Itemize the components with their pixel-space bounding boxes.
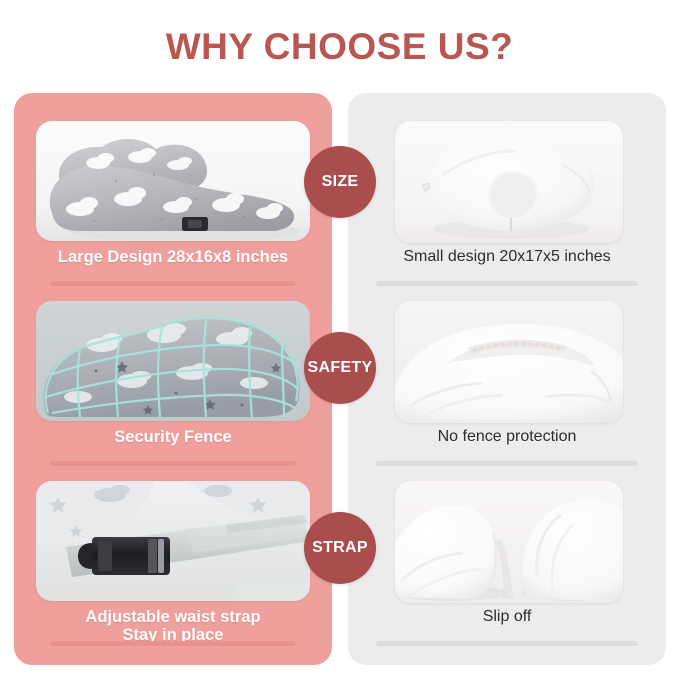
theirs-safety-caption: No fence protection — [358, 428, 656, 446]
ours-size-caption: Large Design 28x16x8 inches — [24, 248, 322, 266]
caption-line-1: Large Design 28x16x8 inches — [24, 248, 322, 266]
theirs-row-safety: No fence protection — [348, 273, 666, 463]
large-pillow-illustration — [36, 121, 310, 241]
ours-row-safety: Security Fence — [14, 273, 332, 463]
comparison-panel-ours: Large Design 28x16x8 inches — [14, 93, 332, 665]
badge-strap: STRAP — [304, 512, 376, 584]
slip-off-pillow-illustration — [395, 481, 623, 603]
theirs-strap-image — [395, 481, 623, 603]
theirs-row-strap: Slip off — [348, 453, 666, 643]
theirs-strap-divider — [376, 641, 638, 646]
no-fence-pillow-illustration — [395, 301, 623, 423]
security-fence-illustration — [36, 301, 310, 421]
ours-strap-caption: Adjustable waist strap Stay in place — [24, 608, 322, 645]
caption-line-1: Slip off — [358, 608, 656, 626]
badge-size: SIZE — [304, 146, 376, 218]
ours-strap-divider — [50, 641, 296, 646]
badge-size-label: SIZE — [322, 173, 359, 191]
badge-safety: SAFETY — [304, 332, 376, 404]
theirs-size-caption: Small design 20x17x5 inches — [358, 248, 656, 266]
ours-size-image — [36, 121, 310, 241]
caption-line-1: Small design 20x17x5 inches — [358, 248, 656, 266]
badge-safety-label: SAFETY — [308, 359, 373, 377]
caption-line-1: Adjustable waist strap — [24, 608, 322, 626]
page-title: WHY CHOOSE US? — [0, 26, 679, 68]
badge-strap-label: STRAP — [312, 539, 368, 557]
caption-line-1: No fence protection — [358, 428, 656, 446]
ours-row-size: Large Design 28x16x8 inches — [14, 93, 332, 283]
ours-safety-caption: Security Fence — [24, 428, 322, 446]
theirs-safety-image — [395, 301, 623, 423]
small-white-pillow-illustration — [395, 121, 623, 243]
ours-row-strap: Adjustable waist strap Stay in place — [14, 453, 332, 643]
theirs-strap-caption: Slip off — [358, 608, 656, 626]
ours-strap-image — [36, 481, 310, 601]
caption-line-1: Security Fence — [24, 428, 322, 446]
ours-safety-image — [36, 301, 310, 421]
comparison-panel-theirs: Small design 20x17x5 inches — [348, 93, 666, 665]
waist-strap-buckle-illustration — [36, 481, 310, 601]
theirs-row-size: Small design 20x17x5 inches — [348, 93, 666, 283]
theirs-size-image — [395, 121, 623, 243]
